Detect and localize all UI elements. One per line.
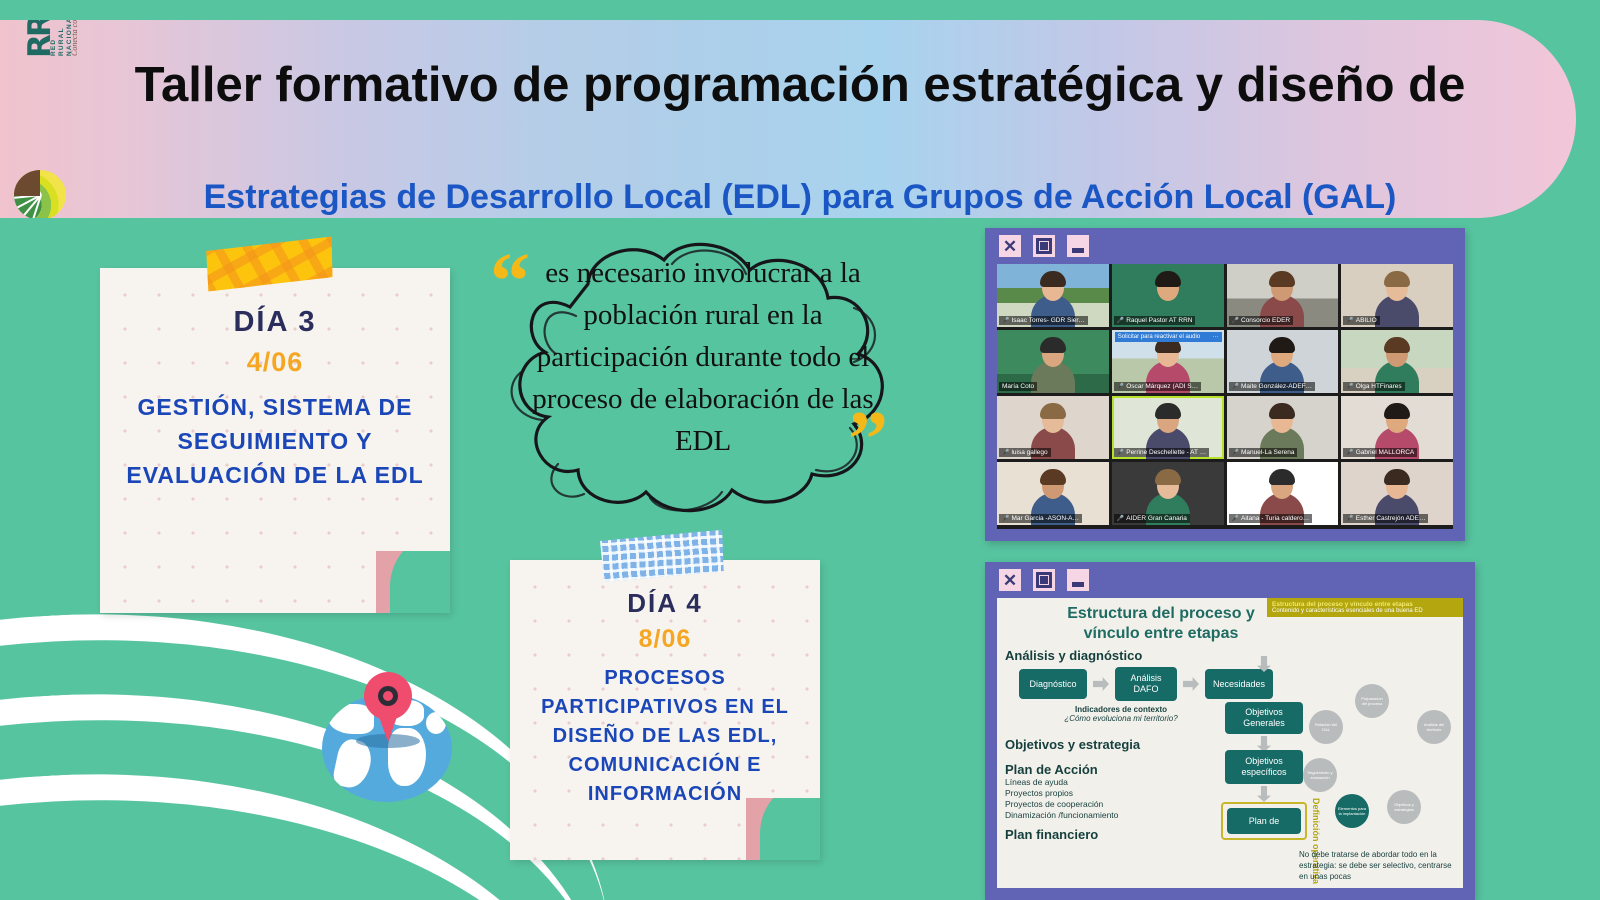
box-diagnostico: Diagnóstico [1019, 669, 1087, 699]
participant-tile[interactable]: María Coto [997, 330, 1109, 393]
box-objetivos-generales: Objetivos Generales [1225, 702, 1303, 734]
participant-name-label: 🎤Mar Garcia -ASON-A… [999, 514, 1082, 523]
participant-tile[interactable]: 🎤Mar Garcia -ASON-A… [997, 462, 1109, 525]
participant-name-text: Oscar Márquez (ADI S… [1126, 383, 1198, 390]
note-body-text: GESTIÓN, SISTEMA DE SEGUIMIENTO Y EVALUA… [100, 390, 450, 492]
note-date-label: 8/06 [510, 625, 820, 654]
participant-name-text: María Coto [1002, 383, 1034, 390]
fan-logo-icon [14, 170, 66, 218]
participant-tile[interactable]: 🎤Olga HTFinares [1341, 330, 1453, 393]
maximize-icon[interactable] [1033, 569, 1055, 591]
participant-name-text: Consorcio EDER [1241, 317, 1290, 324]
reactivar-audio-banner[interactable]: Solicitar para reactivar el audio [1115, 332, 1210, 342]
participant-tile[interactable]: 🎤Gabriel MALLORCA [1341, 396, 1453, 459]
participant-tile[interactable]: 🎤Isaac Torres- GDR Sier… [997, 264, 1109, 327]
globe-location-icon [322, 672, 460, 802]
slide-body: Estructura del proceso y vínculo entre e… [997, 598, 1463, 888]
cycle-node-2: Seguimiento y evaluación [1303, 758, 1337, 792]
box-plan-de: Plan de [1227, 808, 1301, 834]
participant-tile[interactable]: 🎤Aitana - Turia caldero… [1227, 462, 1339, 525]
participant-name-text: Maite González-ADEF… [1241, 383, 1312, 390]
close-icon[interactable]: ✕ [999, 235, 1021, 257]
participant-hair [1269, 469, 1295, 485]
olive-subtitle: Contenido y características esenciales d… [1272, 608, 1458, 614]
participant-tile[interactable]: 🎤Manuel-La Serena [1227, 396, 1339, 459]
slide-share-window: ✕ Estructura del proceso y vínculo entre… [985, 562, 1475, 900]
minimize-icon[interactable] [1067, 569, 1089, 591]
sticky-note-day4: DÍA 4 8/06 PROCESOS PARTICIPATIVOS EN EL… [510, 560, 820, 860]
participant-name-text: Gabriel MALLORCA [1356, 449, 1415, 456]
participant-name-text: Mar Garcia -ASON-A… [1011, 515, 1079, 522]
olive-title: Estructura del proceso y vínculo entre e… [1272, 601, 1458, 608]
quote-text: es necesario involucrar a la población r… [508, 252, 898, 462]
rrn-sub-line1: RED [50, 39, 57, 56]
mic-muted-icon: 🎤 [1346, 515, 1353, 522]
mic-muted-icon: 🎤 [1002, 317, 1009, 324]
participant-tile[interactable]: 🎤luisa gallego [997, 396, 1109, 459]
participant-hair [1155, 403, 1181, 419]
slide-title-line1: Estructura del proceso y [1067, 605, 1255, 622]
participant-tile[interactable]: 🎤Raquel Pastor AT RRN [1112, 264, 1224, 327]
box-objetivos-especificos: Objetivos específicos [1225, 750, 1303, 784]
participant-name-label: 🎤Maite González-ADEF… [1229, 382, 1316, 391]
rrn-logo: RRN RED RURAL NACIONAL Conecta con el De… [10, 34, 88, 214]
participant-tile[interactable]: 🎤AIDER Gran Canaria [1112, 462, 1224, 525]
participant-name-label: 🎤luisa gallego [999, 448, 1051, 457]
participant-name-text: Raquel Pastor AT RRN [1126, 317, 1192, 324]
paper-fold-corner [746, 798, 820, 860]
arrow-right-icon [1183, 677, 1199, 691]
participant-name-label: María Coto [999, 382, 1037, 391]
participant-name-text: Perrine Deschellette - AT … [1126, 449, 1206, 456]
participant-name-text: AIDER Gran Canaria [1126, 515, 1187, 522]
note-date-label: 4/06 [100, 347, 450, 378]
mic-muted-icon: 🎤 [1117, 317, 1124, 324]
participant-hair [1040, 469, 1066, 485]
page-title: Taller formativo de programación estraté… [90, 58, 1510, 112]
participant-name-text: Olga HTFinares [1356, 383, 1402, 390]
participant-name-label: 🎤Oscar Márquez (ADI S… [1114, 382, 1201, 391]
quote-cloud: “ es necesario involucrar a la población… [450, 212, 950, 542]
participant-hair [1384, 271, 1410, 287]
participant-name-label: 🎤Raquel Pastor AT RRN [1114, 316, 1196, 325]
participant-tile[interactable]: 🎤ABILIO [1341, 264, 1453, 327]
participant-name-label: 🎤Olga HTFinares [1343, 382, 1404, 391]
cycle-node-0: Preparación del proceso [1355, 684, 1389, 718]
participant-name-text: luisa gallego [1011, 449, 1047, 456]
participant-tile[interactable]: 🎤Consorcio EDER [1227, 264, 1339, 327]
participant-name-text: ABILIO [1356, 317, 1377, 324]
minimize-icon[interactable] [1067, 235, 1089, 257]
mic-muted-icon: 🎤 [1002, 515, 1009, 522]
slide-olive-header: Estructura del proceso y vínculo entre e… [1267, 598, 1463, 617]
mic-muted-icon: 🎤 [1117, 449, 1124, 456]
note-body-text: PROCESOS PARTICIPATIVOS EN EL DISEÑO DE … [510, 664, 820, 809]
slide-right-note: No debe tratarse de abordar todo en la e… [1299, 849, 1459, 882]
mic-muted-icon: 🎤 [1232, 449, 1239, 456]
cycle-node-3: Elementos para la implantación [1335, 794, 1369, 828]
participant-hair [1384, 469, 1410, 485]
mic-muted-icon: 🎤 [1002, 449, 1009, 456]
window-titlebar: ✕ [985, 562, 1475, 598]
yellow-plaid-tape-icon [203, 236, 336, 291]
participant-name-label: 🎤Aitana - Turia caldero… [1229, 514, 1313, 523]
participant-name-label: 🎤Perrine Deschellette - AT … [1114, 448, 1209, 457]
mic-muted-icon: 🎤 [1346, 449, 1353, 456]
participant-hair [1155, 271, 1181, 287]
maximize-icon[interactable] [1033, 235, 1055, 257]
mic-muted-icon: 🎤 [1346, 383, 1353, 390]
slide-title: Estructura del proceso y vínculo entre e… [1011, 604, 1311, 644]
participant-hair [1269, 271, 1295, 287]
rrn-sub-line2: RURAL [58, 27, 65, 56]
map-pin-icon [364, 672, 412, 744]
participant-hair [1040, 337, 1066, 353]
participant-tile[interactable]: 🎤Esther Castrejón ADE… [1341, 462, 1453, 525]
participant-hair [1384, 403, 1410, 419]
participant-name-text: Esther Castrejón ADE… [1356, 515, 1426, 522]
participant-hair [1155, 469, 1181, 485]
arrow-down-icon [1257, 656, 1271, 672]
participant-name-text: Aitana - Turia caldero… [1241, 515, 1309, 522]
participant-name-label: 🎤AIDER Gran Canaria [1114, 514, 1190, 523]
mic-muted-icon: 🎤 [1232, 515, 1239, 522]
participant-hair [1040, 271, 1066, 287]
arrow-right-icon [1093, 677, 1109, 691]
cycle-node-1: Relación del GAL [1309, 710, 1343, 744]
box-dafo: Análisis DAFO [1115, 667, 1177, 701]
participant-hair [1384, 337, 1410, 353]
participant-name-label: 🎤Consorcio EDER [1229, 316, 1294, 325]
note-day-label: DÍA 4 [510, 588, 820, 619]
participant-tile[interactable]: 🎤Maite González-ADEF… [1227, 330, 1339, 393]
rrn-logo-tagline: Conecta con el Desarrollo Rural [70, 20, 79, 56]
note-day-label: DÍA 3 [100, 306, 450, 339]
mic-muted-icon: 🎤 [1232, 317, 1239, 324]
participant-hair [1040, 403, 1066, 419]
page-subtitle: Estrategias de Desarrollo Local (EDL) pa… [90, 178, 1510, 216]
participant-name-label: 🎤ABILIO [1343, 316, 1379, 325]
more-options-icon[interactable]: ··· [1210, 332, 1222, 342]
video-grid-body: 🎤Isaac Torres- GDR Sier…🎤Raquel Pastor A… [997, 264, 1453, 529]
participant-name-label: 🎤Manuel-La Serena [1229, 448, 1298, 457]
video-call-window: ✕ 🎤Isaac Torres- GDR Sier…🎤Raquel Pastor… [985, 228, 1465, 541]
window-titlebar: ✕ [985, 228, 1465, 264]
close-icon[interactable]: ✕ [999, 569, 1021, 591]
mic-muted-icon: 🎤 [1117, 515, 1124, 522]
participant-name-text: Isaac Torres- GDR Sier… [1011, 317, 1085, 324]
participant-hair [1269, 403, 1295, 419]
participant-hair [1269, 337, 1295, 353]
mic-muted-icon: 🎤 [1346, 317, 1353, 324]
mic-muted-icon: 🎤 [1232, 383, 1239, 390]
participant-name-text: Manuel-La Serena [1241, 449, 1294, 456]
cycle-node-4: Objetivos y estrategias [1387, 790, 1421, 824]
header-banner: RRN RED RURAL NACIONAL Conecta con el De… [0, 20, 1576, 218]
participant-name-label: 🎤Isaac Torres- GDR Sier… [999, 316, 1088, 325]
indicators-sub: ¿Cómo evoluciona mi territorio? [1064, 714, 1177, 723]
cycle-node-5: Análisis del territorio [1417, 710, 1451, 744]
participant-tile[interactable]: Solicitar para reactivar el audio···🎤Osc… [1112, 330, 1224, 393]
mic-muted-icon: 🎤 [1117, 383, 1124, 390]
action-plan-item: Proyectos propios [1005, 788, 1455, 799]
slide-title-line2: vínculo entre etapas [1084, 625, 1239, 642]
indicators-title: Indicadores de contexto [1075, 705, 1167, 714]
participant-grid: 🎤Isaac Torres- GDR Sier…🎤Raquel Pastor A… [997, 264, 1453, 525]
participant-name-label: 🎤Esther Castrejón ADE… [1343, 514, 1428, 523]
paper-fold-corner [376, 551, 450, 613]
sticky-note-day3: DÍA 3 4/06 GESTIÓN, SISTEMA DE SEGUIMIEN… [100, 268, 450, 613]
participant-name-label: 🎤Gabriel MALLORCA [1343, 448, 1417, 457]
participant-tile[interactable]: 🎤Perrine Deschellette - AT … [1112, 396, 1224, 459]
